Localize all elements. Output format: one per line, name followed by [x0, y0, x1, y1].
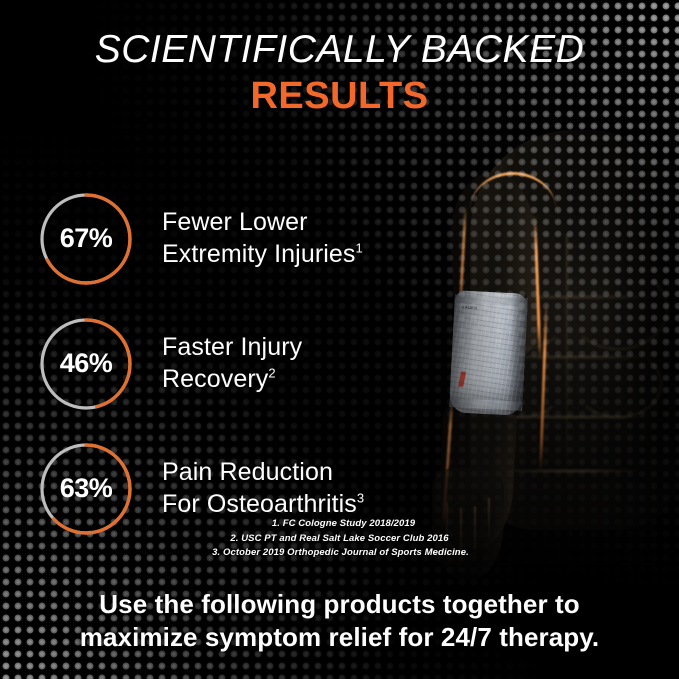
stat-footnote-marker: 2 — [268, 365, 275, 380]
stat-label: Faster Injury Recovery2 — [162, 332, 302, 395]
headline-line-primary: SCIENTIFICALLY BACKED — [0, 30, 679, 71]
progress-ring: 67% — [38, 191, 134, 287]
footnote-citations: 1. FC Cologne Study 2018/2019 2. USC PT … — [0, 517, 679, 561]
stat-label: Pain Reduction For Osteoarthritis3 — [162, 457, 364, 520]
stat-label: Fewer Lower Extremity Injuries1 — [162, 207, 363, 270]
stat-footnote-marker: 1 — [356, 240, 363, 255]
headline-line-accent: RESULTS — [0, 77, 679, 117]
infographic-card: BAUER — [0, 0, 679, 679]
footnote-item: 1. FC Cologne Study 2018/2019 — [0, 517, 679, 532]
stat-row: 67% Fewer Lower Extremity Injuries1 — [0, 176, 440, 301]
stat-label-text: Pain Reduction For Osteoarthritis — [162, 458, 357, 518]
footnote-item: 2. USC PT and Real Salt Lake Soccer Club… — [0, 532, 679, 547]
stat-percent-value: 46% — [38, 316, 134, 412]
stat-row: 46% Faster Injury Recovery2 — [0, 301, 440, 426]
stat-percent-value: 67% — [38, 191, 134, 287]
call-to-action-text: Use the following products together to m… — [0, 588, 679, 655]
footnote-item: 3. October 2019 Orthopedic Journal of Sp… — [0, 546, 679, 561]
stat-label-text: Fewer Lower Extremity Injuries — [162, 208, 356, 268]
stats-list: 67% Fewer Lower Extremity Injuries1 46% … — [0, 176, 440, 551]
stat-footnote-marker: 3 — [357, 490, 364, 505]
headline: SCIENTIFICALLY BACKED RESULTS — [0, 30, 679, 117]
progress-ring: 46% — [38, 316, 134, 412]
content-layer: SCIENTIFICALLY BACKED RESULTS 67% Fewer … — [0, 0, 679, 679]
stat-label-text: Faster Injury Recovery — [162, 333, 302, 393]
